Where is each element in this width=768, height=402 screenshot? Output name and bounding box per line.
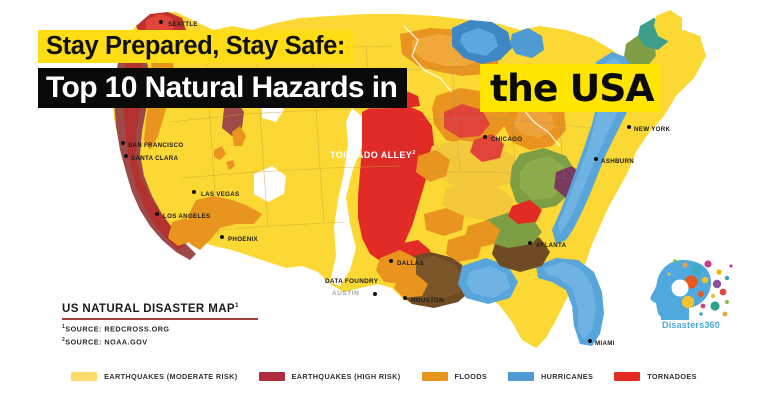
map-label-atlanta: ATLANTA (536, 242, 566, 249)
map-dot-houston (403, 296, 407, 300)
map-dot-san-francisco (121, 141, 125, 145)
logo-dot-17 (699, 312, 703, 316)
map-label-new-york: NEW YORK (634, 126, 670, 133)
map-legend: EARTHQUAKES (MODERATE RISK)EARTHQUAKES (… (0, 365, 768, 387)
legend-label: EARTHQUAKES (HIGH RISK) (292, 372, 401, 381)
map-label-data-foundry: DATA FOUNDRY (325, 278, 378, 285)
logo-dot-2 (716, 269, 721, 274)
legend-swatch-icon (259, 372, 285, 381)
map-label-los-angeles: LOS ANGELES (163, 213, 210, 220)
logo-dot-16 (725, 300, 729, 304)
disasters360-logo[interactable]: Disasters360 (645, 256, 737, 340)
legend-swatch-icon (508, 372, 534, 381)
map-dot-atlanta (528, 241, 532, 245)
map-dot-los-angeles (155, 212, 159, 216)
map-dot-chicago (483, 135, 487, 139)
map-label-seattle: SEATTLE (168, 21, 198, 28)
logo-dot-1 (704, 260, 711, 267)
legend-label: TORNADOES (647, 372, 697, 381)
legend-label: HURRICANES (541, 372, 593, 381)
logo-dot-8 (725, 276, 729, 280)
logo-dot-18 (723, 312, 728, 317)
logo-dot-0 (692, 265, 703, 276)
map-dot-las-vegas (192, 190, 196, 194)
legend-item-tornadoes: TORNADOES (614, 372, 697, 381)
map-label-las-vegas: LAS VEGAS (201, 191, 239, 198)
map-dot-ashburn (594, 157, 598, 161)
map-label-austin: AUSTIN (332, 290, 359, 297)
map-label-dallas: DALLAS (397, 260, 424, 267)
infographic-canvas: SEATTLESAN FRANCISCOSANTA CLARALAS VEGAS… (0, 0, 768, 402)
map-label-san-francisco: SAN FRANCISCO (128, 142, 183, 149)
legend-label: FLOODS (455, 372, 488, 381)
legend-item-earthquakes-high-risk: EARTHQUAKES (HIGH RISK) (259, 372, 401, 381)
logo-dot-6 (702, 277, 708, 283)
logo-dot-12 (720, 289, 727, 296)
legend-swatch-icon (422, 372, 448, 381)
legend-item-hurricanes: HURRICANES (508, 372, 593, 381)
logo-dot-4 (673, 259, 677, 263)
logo-dot-10 (698, 291, 704, 297)
legend-label: EARTHQUAKES (MODERATE RISK) (104, 372, 237, 381)
map-label-chicago: CHICAGO (491, 136, 522, 143)
logo-dot-7 (713, 280, 721, 288)
map-label-houston: HOUSTON (411, 297, 444, 304)
map-dot-new-york (627, 125, 631, 129)
logo-dot-11 (711, 294, 715, 298)
map-dot-miami (588, 339, 592, 343)
logo-dot-20 (668, 273, 671, 276)
map-label-tornado-alley: TORNADO ALLEY2 (330, 148, 394, 161)
caption-underline (62, 318, 258, 320)
logo-dot-3 (682, 262, 687, 267)
logo-dot-9 (672, 280, 689, 297)
legend-swatch-icon (614, 372, 640, 381)
logo-wordmark: Disasters360 (645, 320, 737, 330)
logo-dot-15 (710, 301, 719, 310)
legend-item-floods: FLOODS (422, 372, 488, 381)
legend-swatch-icon (71, 372, 97, 381)
map-dot-santa-clara (124, 154, 128, 158)
caption-heading: US NATURAL DISASTER MAP1 (62, 302, 258, 315)
map-label-santa-clara: SANTA CLARA (131, 155, 178, 162)
map-label-miami: MIAMI (595, 340, 615, 347)
logo-dot-13 (682, 296, 694, 308)
map-label-phoenix: PHOENIX (228, 236, 258, 243)
legend-item-earthquakes-moderate-risk: EARTHQUAKES (MODERATE RISK) (71, 372, 237, 381)
logo-dot-19 (729, 264, 732, 267)
map-caption-block: US NATURAL DISASTER MAP1 1SOURCE: REDCRO… (62, 302, 258, 347)
map-dot-seattle (159, 20, 163, 24)
caption-source-2: 2SOURCE: NOAA.GOV (62, 337, 258, 346)
map-dot-dallas (389, 259, 393, 263)
map-dot-data-foundry (373, 292, 377, 296)
logo-head-icon (645, 256, 737, 320)
map-dot-phoenix (220, 235, 224, 239)
caption-source-1: 1SOURCE: REDCROSS.ORG (62, 324, 258, 333)
map-great-lakes (452, 20, 544, 64)
logo-dot-14 (701, 304, 706, 309)
map-label-ashburn: ASHBURN (601, 158, 634, 165)
